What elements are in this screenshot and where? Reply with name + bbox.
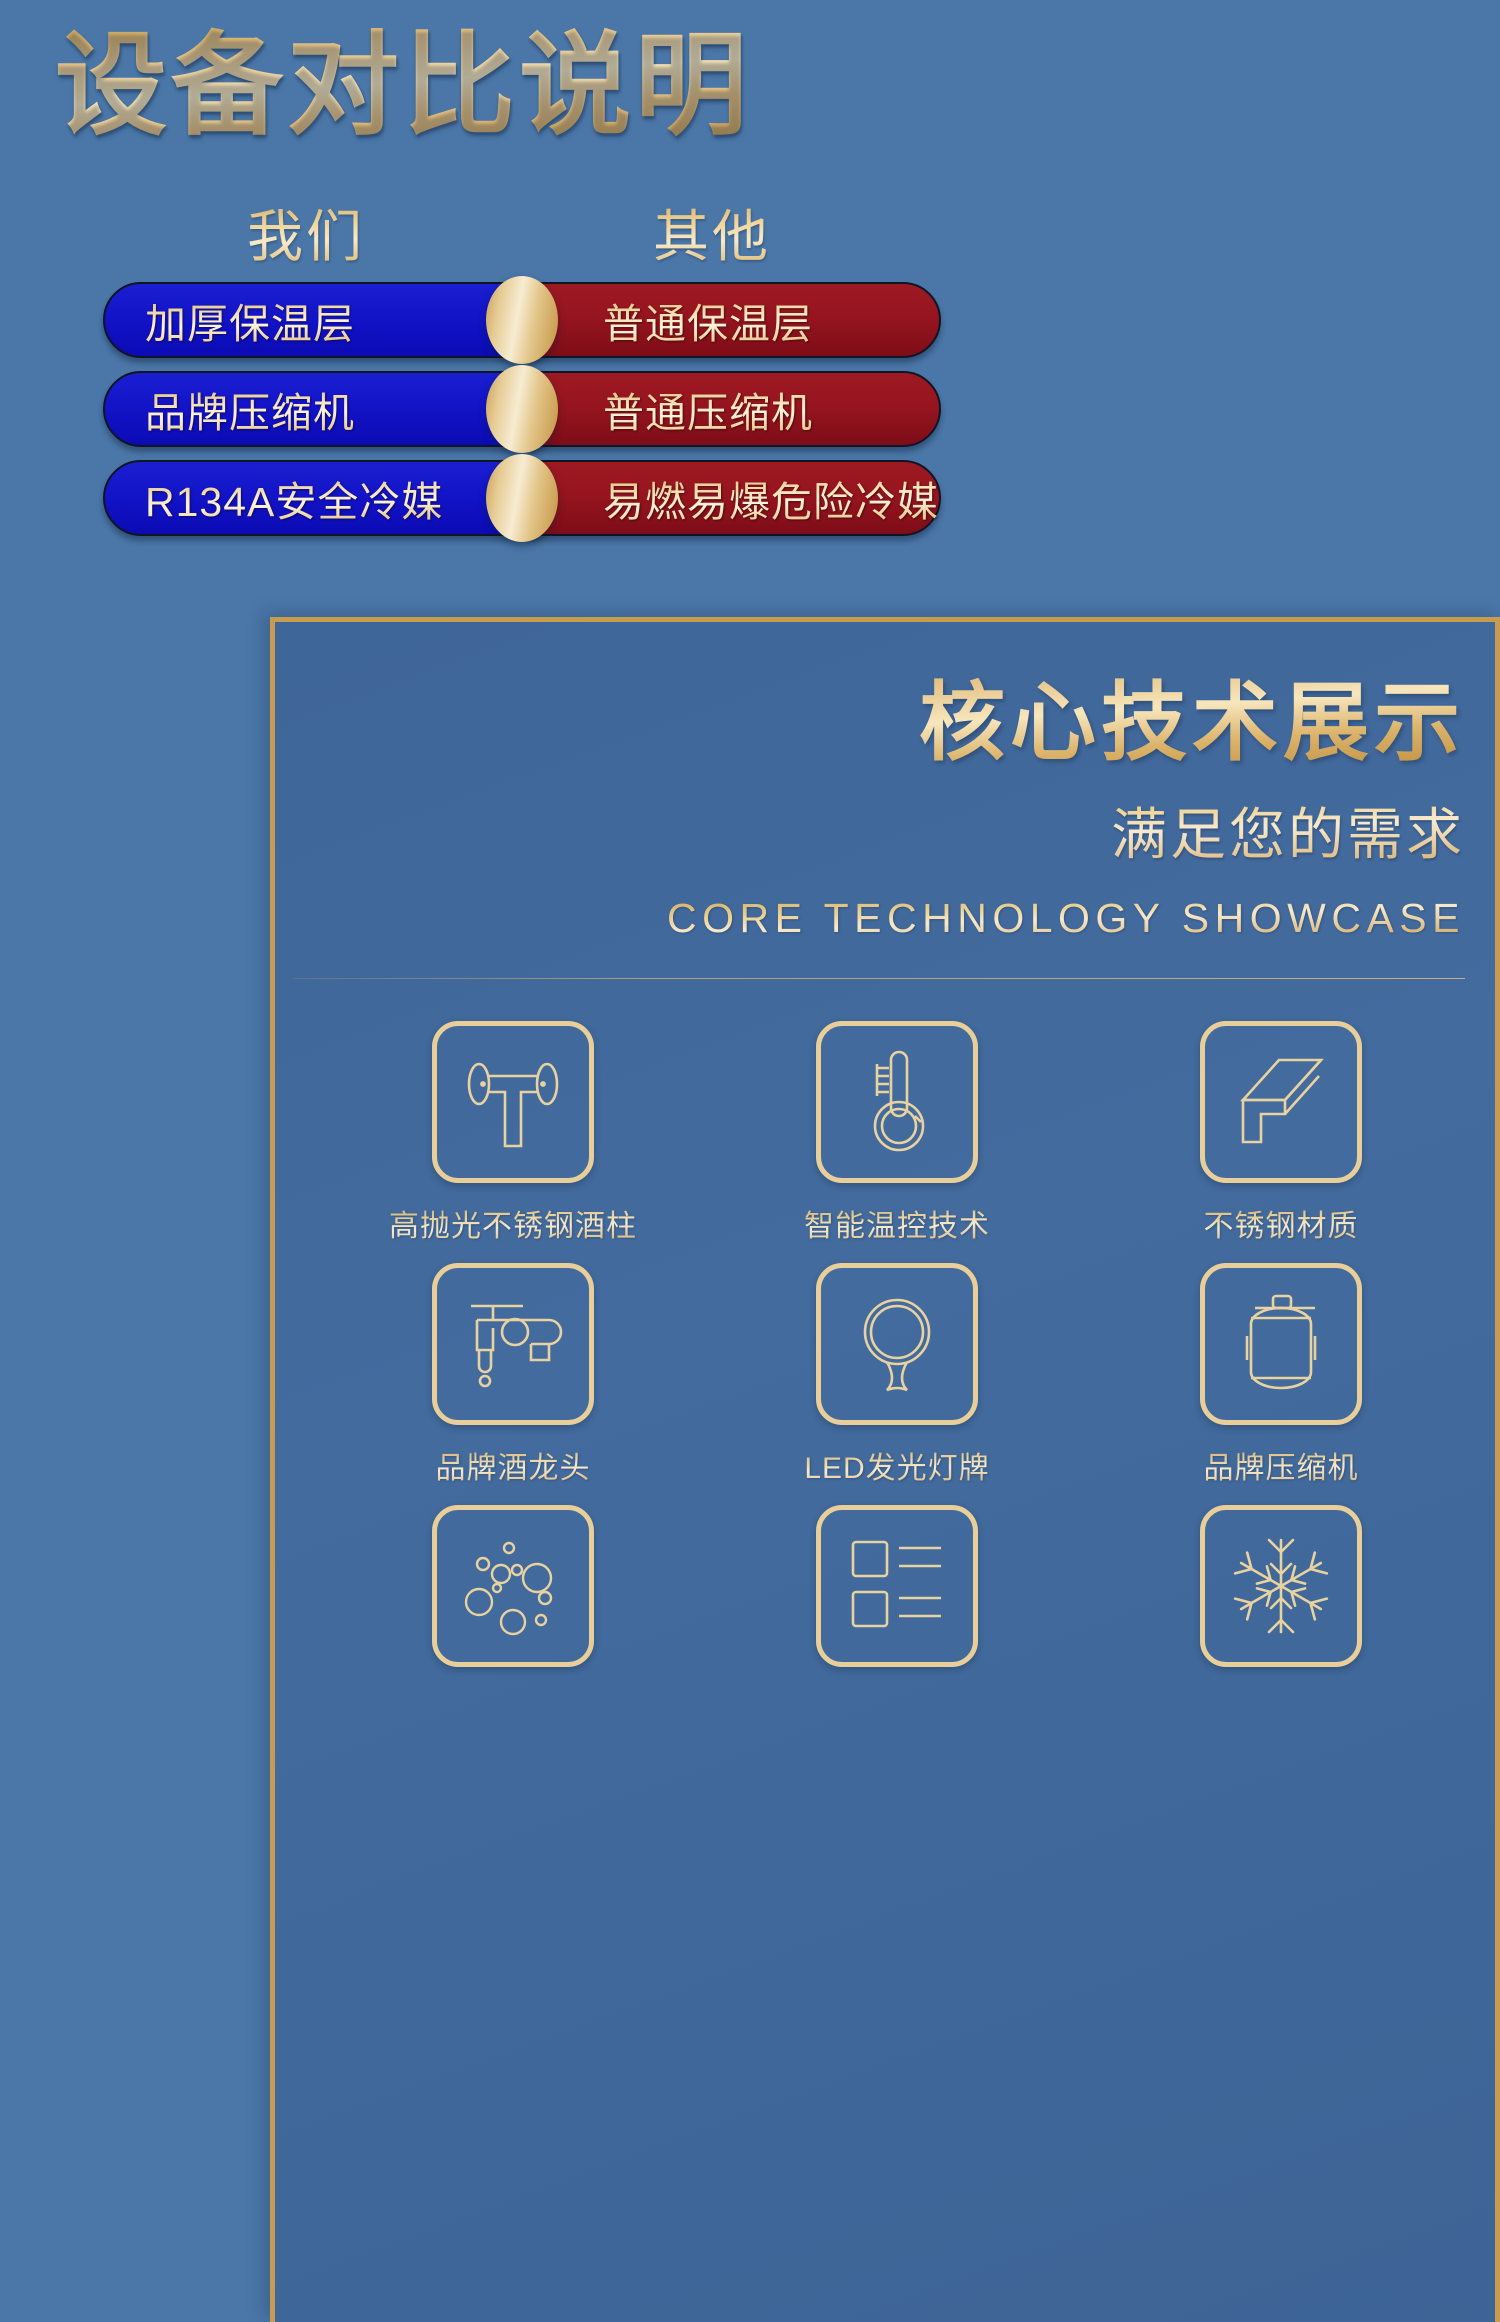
feature-label: 智能温控技术: [804, 1201, 990, 1245]
comparison-header-ours: 我们: [247, 192, 365, 273]
wine-column-icon: [432, 1021, 594, 1183]
feature-item: [321, 1505, 705, 1667]
core-technology-subtitle: 满足您的需求: [275, 790, 1465, 871]
comparison-label-ours: 品牌压缩机: [145, 379, 355, 439]
feature-label: LED发光灯牌: [804, 1443, 989, 1487]
comparison-bar-theirs: 易燃易爆危险冷媒: [521, 460, 941, 536]
feature-item: LED发光灯牌: [705, 1263, 1089, 1487]
versus-dot-icon: [486, 365, 558, 453]
core-technology-title: 核心技术展示: [275, 670, 1465, 778]
feature-label: 不锈钢材质: [1204, 1201, 1359, 1245]
divider: [293, 978, 1465, 979]
bubbles-icon: [432, 1505, 594, 1667]
feature-item: 高抛光不锈钢酒柱: [321, 1021, 705, 1245]
comparison-header-theirs: 其他: [653, 192, 771, 273]
page-title: 设备对比说明: [55, 16, 751, 156]
feature-item: [1089, 1505, 1473, 1667]
comparison-label-theirs: 普通压缩机: [603, 379, 813, 439]
feature-item: [705, 1505, 1089, 1667]
comparison-label-theirs: 易燃易爆危险冷媒: [603, 468, 939, 528]
comparison-list: 加厚保温层 普通保温层 品牌压缩机 普通压缩机 R134A安全冷媒 易燃易爆危险…: [103, 282, 941, 549]
comparison-row: R134A安全冷媒 易燃易爆危险冷媒: [103, 460, 941, 536]
feature-label: 品牌压缩机: [1204, 1443, 1359, 1487]
comparison-bar-ours: 加厚保温层: [103, 282, 543, 358]
comparison-label-theirs: 普通保温层: [603, 290, 813, 350]
feature-item: 智能温控技术: [705, 1021, 1089, 1245]
stainless-steel-icon: [1200, 1021, 1362, 1183]
feature-label: 高抛光不锈钢酒柱: [389, 1201, 637, 1245]
comparison-headers: 我们 其他: [100, 192, 940, 272]
menu-list-icon: [816, 1505, 978, 1667]
core-technology-panel: 核心技术展示 满足您的需求 CORE TECHNOLOGY SHOWCASE 高…: [270, 617, 1500, 2322]
core-technology-header: 核心技术展示 满足您的需求 CORE TECHNOLOGY SHOWCASE: [275, 622, 1495, 942]
comparison-row: 品牌压缩机 普通压缩机: [103, 371, 941, 447]
feature-item: 品牌压缩机: [1089, 1263, 1473, 1487]
comparison-label-ours: R134A安全冷媒: [145, 468, 443, 528]
comparison-bar-ours: 品牌压缩机: [103, 371, 543, 447]
feature-label: 品牌酒龙头: [436, 1443, 591, 1487]
comparison-row: 加厚保温层 普通保温层: [103, 282, 941, 358]
comparison-bar-theirs: 普通压缩机: [521, 371, 941, 447]
compressor-icon: [1200, 1263, 1362, 1425]
feature-item: 不锈钢材质: [1089, 1021, 1473, 1245]
feature-item: 品牌酒龙头: [321, 1263, 705, 1487]
versus-dot-icon: [486, 454, 558, 542]
snowflake-icon: [1200, 1505, 1362, 1667]
comparison-bar-ours: R134A安全冷媒: [103, 460, 543, 536]
led-ring-icon: [816, 1263, 978, 1425]
feature-icon-grid: 高抛光不锈钢酒柱 智能温控技术: [321, 1021, 1473, 1667]
versus-dot-icon: [486, 276, 558, 364]
thermometer-icon: [816, 1021, 978, 1183]
comparison-bar-theirs: 普通保温层: [521, 282, 941, 358]
beer-tap-icon: [432, 1263, 594, 1425]
comparison-label-ours: 加厚保温层: [145, 290, 355, 350]
core-technology-subtitle-en: CORE TECHNOLOGY SHOWCASE: [275, 895, 1465, 942]
